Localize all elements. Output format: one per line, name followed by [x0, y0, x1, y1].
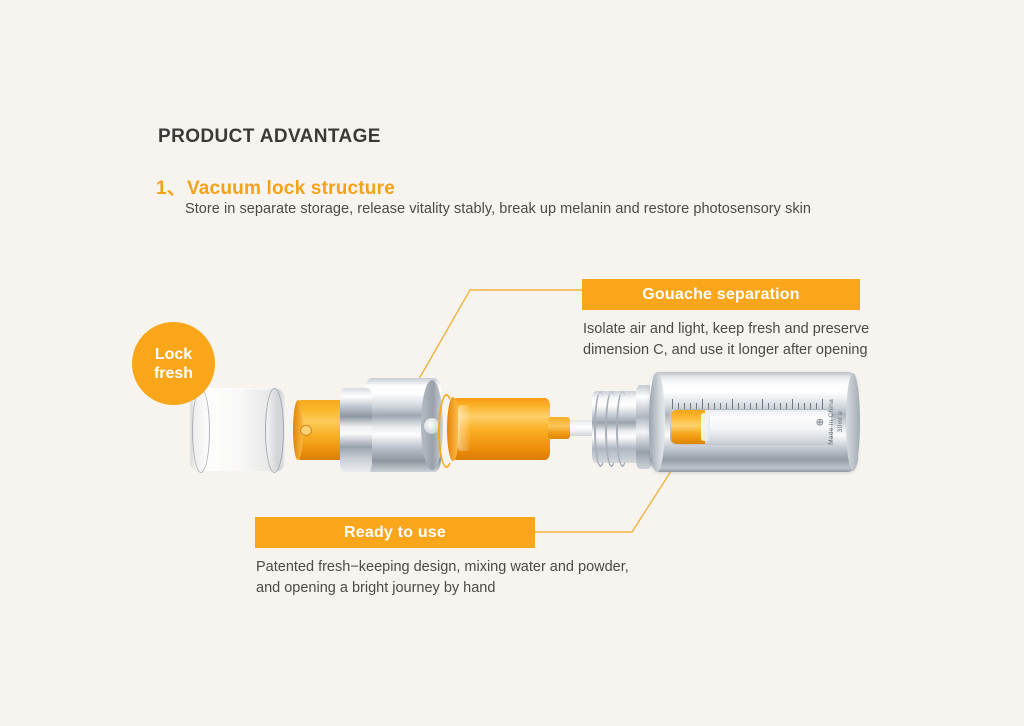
bottle-label: ⊕ Made in China 30ml e — [815, 388, 844, 456]
ruler-tick — [792, 399, 793, 409]
pao-symbol: ⊕ — [815, 418, 826, 426]
bottle-volume-text: 30ml e — [837, 411, 844, 432]
ruler-tick — [672, 399, 673, 409]
callout-body-ready-to-use: Patented fresh−keeping design, mixing wa… — [256, 557, 686, 599]
graduation-ruler — [672, 398, 827, 409]
neck-thread — [616, 391, 629, 467]
lock-fresh-badge: Lock fresh — [132, 322, 215, 405]
vial-spout — [548, 417, 570, 439]
threaded-neck — [592, 385, 650, 469]
nozzle-port — [300, 425, 312, 436]
chrome-ring — [340, 388, 372, 472]
vial-lip-ring — [438, 394, 455, 468]
window-piston — [701, 413, 710, 441]
ruler-tick — [732, 399, 733, 409]
lock-fresh-line1: Lock — [155, 345, 192, 364]
callout-badge-ready-to-use: Ready to use — [255, 517, 535, 548]
transparent-cap — [190, 388, 285, 471]
vial-highlight — [458, 405, 470, 451]
callout-badge-gouache-separation: Gouache separation — [582, 279, 860, 310]
callout-body-gouache-separation: Isolate air and light, keep fresh and pr… — [583, 319, 913, 361]
level-window — [670, 409, 832, 445]
silver-bottle-body: ⊕ Made in China 30ml e — [650, 372, 858, 472]
orange-serum-vial — [452, 398, 550, 460]
silver-pump-collar — [365, 378, 441, 472]
infographic-canvas: PRODUCT ADVANTAGE 1、Vacuum lock structur… — [0, 0, 1024, 726]
lock-fresh-line2: fresh — [154, 364, 193, 383]
ruler-tick — [762, 399, 763, 409]
serum-fill-indicator — [671, 410, 705, 444]
bottle-right-edge — [846, 373, 860, 471]
bottle-origin-text: Made in China — [828, 399, 835, 445]
bottle-left-edge — [649, 372, 665, 472]
ruler-tick — [702, 399, 703, 409]
